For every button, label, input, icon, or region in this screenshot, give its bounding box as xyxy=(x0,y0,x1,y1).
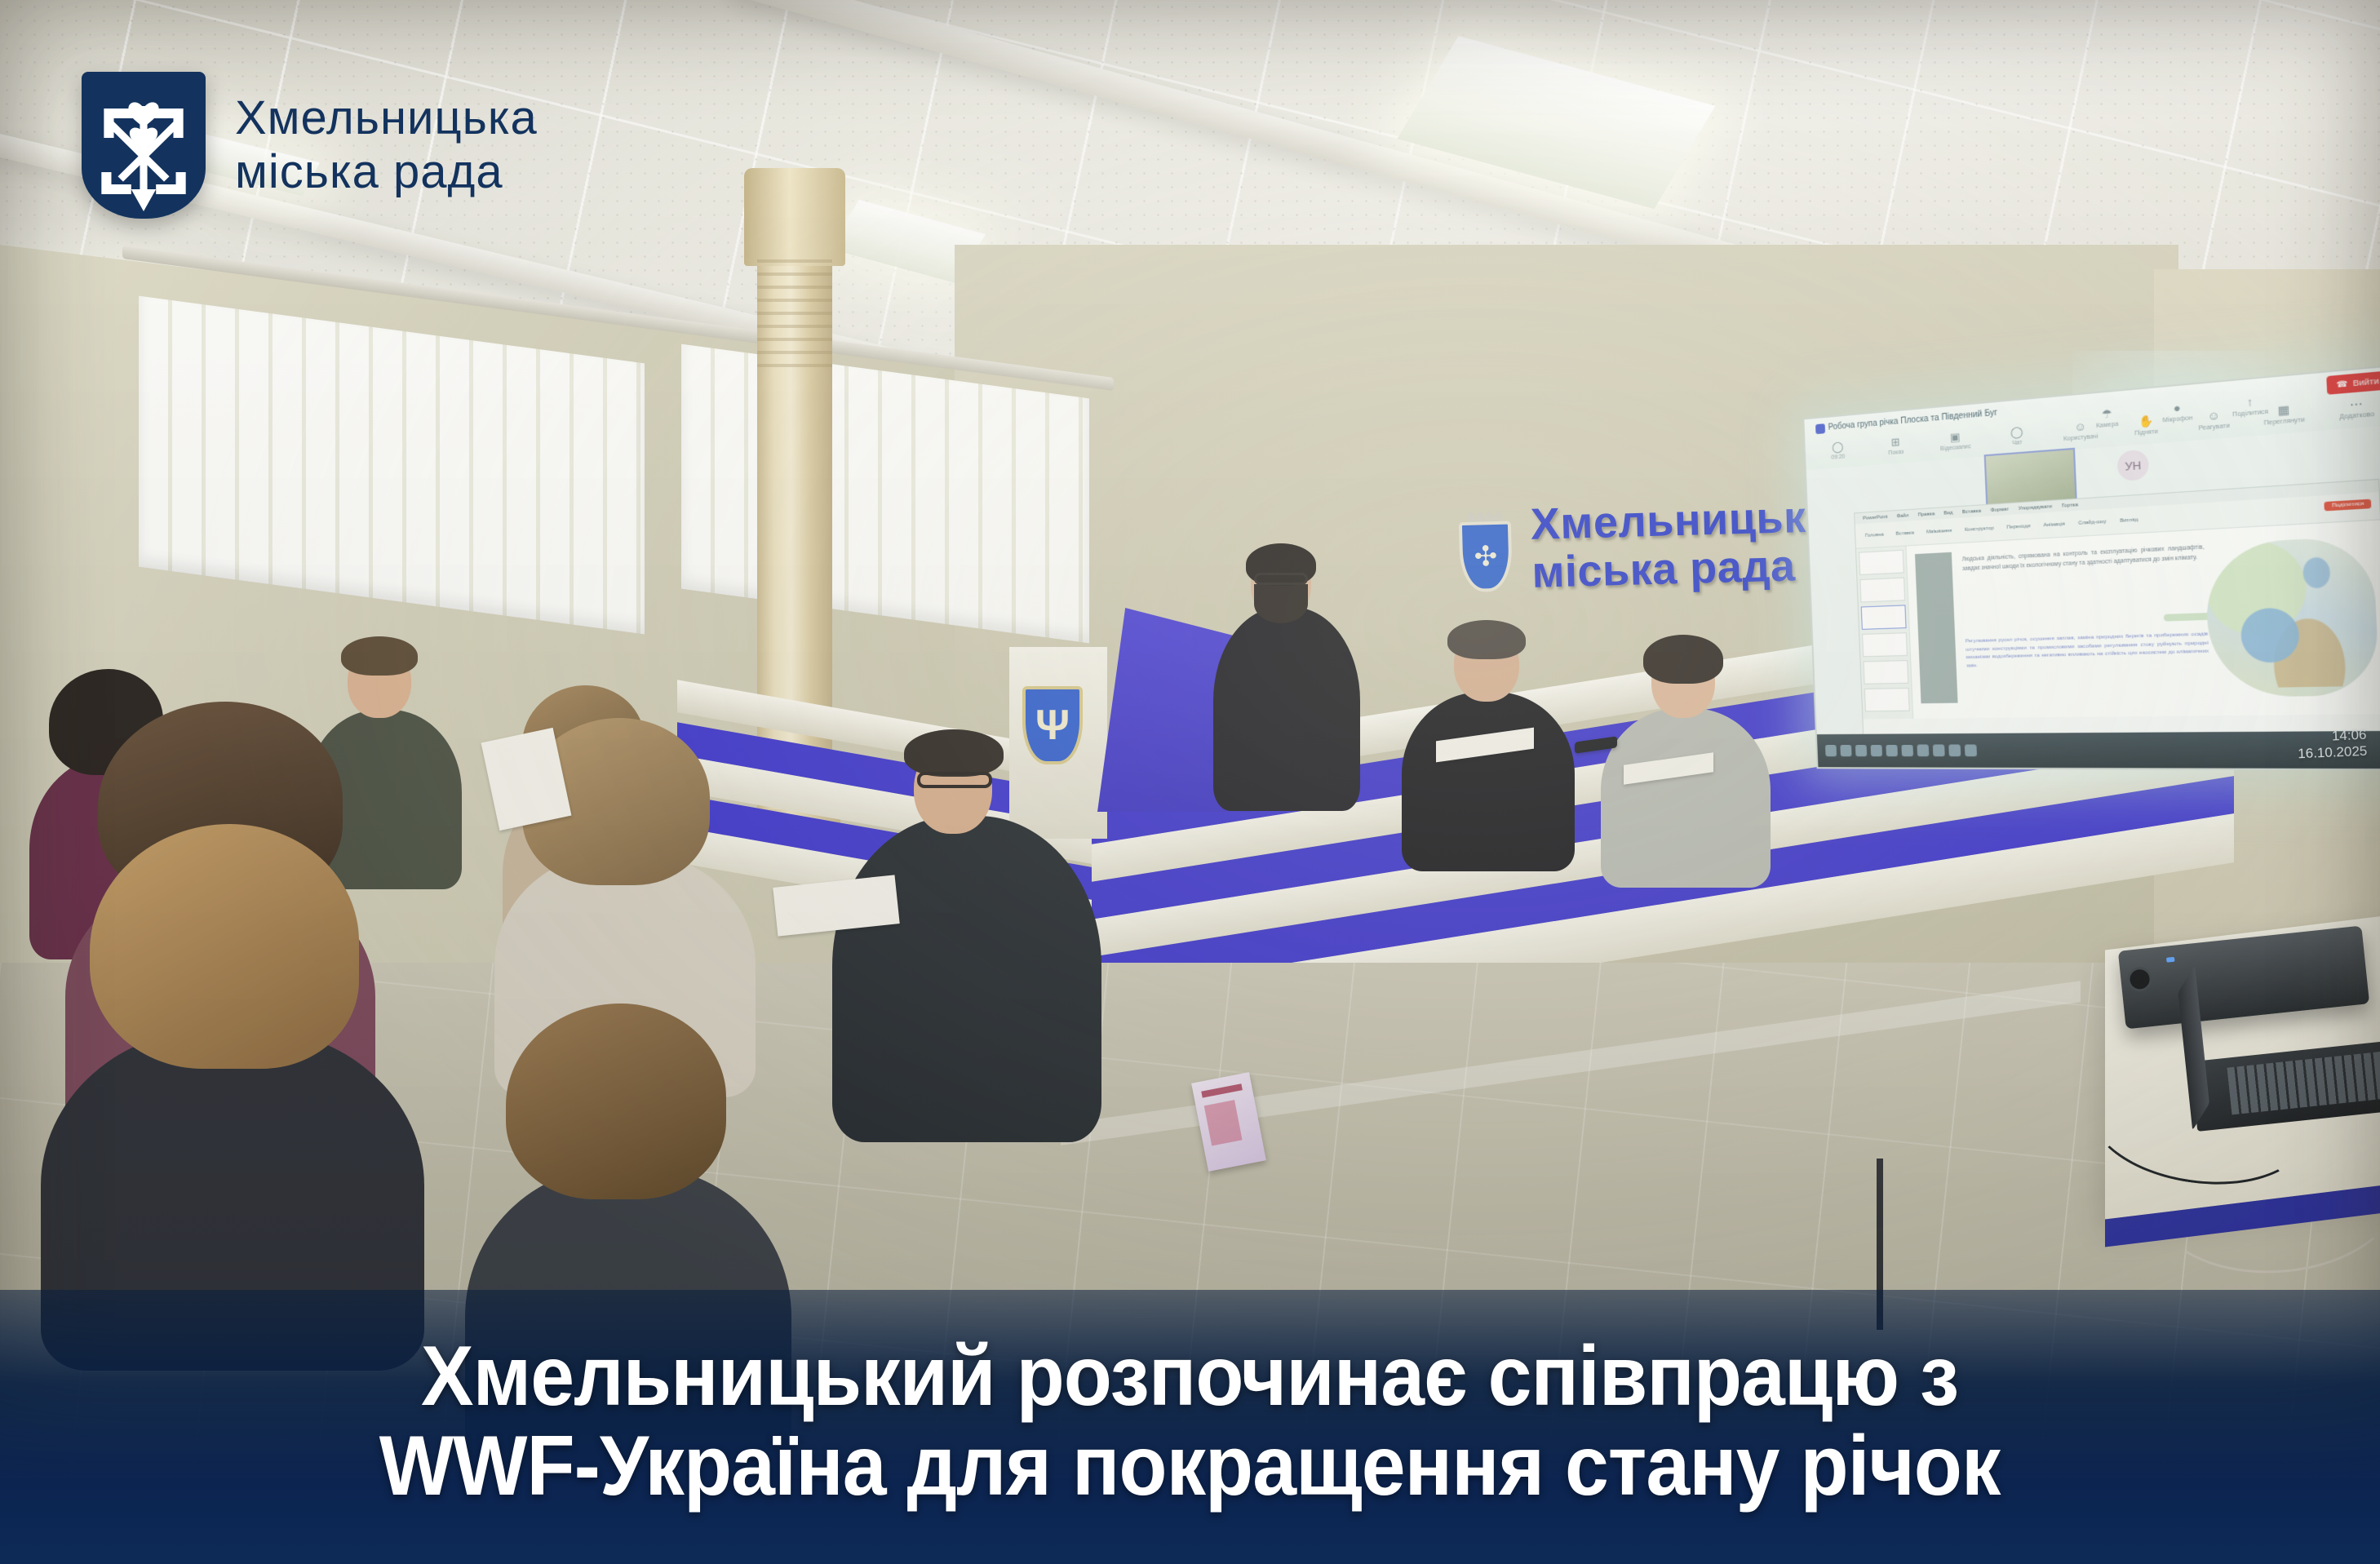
phone-hangup-icon: ☎ xyxy=(2336,379,2348,390)
khmelnytskyi-arrows-shield-icon xyxy=(82,72,206,219)
ribbon-tab[interactable]: Конструктор xyxy=(1965,525,1994,532)
wall-sign-line2: міська рада xyxy=(1531,543,1850,596)
menu-item[interactable]: Правка xyxy=(1917,512,1935,517)
caption-banner: Хмельницький розпочинає співпрацю з WWF-… xyxy=(0,1290,2380,1564)
ribbon-tab[interactable]: Malювання xyxy=(1926,528,1952,534)
slide-accent-bar xyxy=(1915,552,1958,703)
projector-led-icon xyxy=(2166,957,2175,963)
river-landscape-illustration xyxy=(2204,535,2380,698)
brand-logo: Хмельницька міська рада xyxy=(82,72,538,219)
ribbon-tab[interactable]: Вставка xyxy=(1895,530,1914,536)
wall-sign: ✣ Хмельницька міська рада xyxy=(1455,494,1850,619)
task-view-icon[interactable] xyxy=(1840,745,1851,756)
projector-lens xyxy=(2126,966,2153,993)
search-icon[interactable] xyxy=(1825,745,1837,756)
browser-icon[interactable] xyxy=(1871,745,1882,756)
menu-item[interactable]: Файл xyxy=(1896,513,1908,519)
settings-icon[interactable] xyxy=(1901,745,1913,756)
menu-item[interactable]: Гортка xyxy=(2062,503,2078,509)
column-capital xyxy=(744,168,845,266)
menu-item[interactable]: Упорядкувати xyxy=(2019,504,2052,512)
camera-icon[interactable]: ☂Камера xyxy=(2084,406,2130,430)
news-card: ✣ Хмельницька міська рада Ψ xyxy=(0,0,2380,1564)
khmelnytskyi-coat-of-arms-icon: ✣ xyxy=(1455,507,1516,597)
column-rings xyxy=(757,259,832,374)
record-icon[interactable]: ▣Відеозапис xyxy=(1934,430,1977,453)
ribbon-tab[interactable]: Переходи xyxy=(2006,523,2030,529)
leave-meeting-button[interactable]: ☎Вийти xyxy=(2326,370,2380,395)
projection-screen: Робоча група річка Плоска та Південний Б… xyxy=(1802,364,2380,770)
slide-thumbnail[interactable] xyxy=(1859,550,1904,575)
explorer-icon[interactable] xyxy=(1855,745,1867,756)
more-icon[interactable]: ⋯Додатково xyxy=(2330,396,2380,421)
brand-logo-text: Хмельницька міська рада xyxy=(235,91,538,199)
slide-thumbnail[interactable] xyxy=(1863,660,1908,685)
call-timer: ◯09:20 xyxy=(1818,440,1858,462)
brand-line-1: Хмельницька xyxy=(235,91,538,144)
ribbon-tab[interactable]: Слайд-шоу xyxy=(2078,519,2107,525)
share-button[interactable]: Поділитися xyxy=(2325,499,2372,512)
meeting-app-icon xyxy=(1815,423,1825,434)
slide-paragraph-1: Людська діяльність, спрямована на контро… xyxy=(1961,543,2205,574)
wall-sign-line1: Хмельницька xyxy=(1530,494,1849,547)
ribbon-tab[interactable]: Вигляд xyxy=(2120,517,2138,524)
teams-icon[interactable] xyxy=(1917,745,1930,756)
brand-line-2: міська рада xyxy=(235,145,538,199)
caption-line-2: WWF-Україна для покращення стану річок xyxy=(379,1421,2001,1511)
microphone-icon[interactable]: ●Мікрофон xyxy=(2153,400,2201,424)
ribbon-tab[interactable]: Головна xyxy=(1865,532,1884,538)
share-icon[interactable]: ↑Поділитися xyxy=(2225,394,2275,419)
person-speaker xyxy=(1221,548,1376,817)
powerpoint-icon[interactable] xyxy=(1886,745,1898,756)
caption-text: Хмельницький розпочинає співпрацю з WWF-… xyxy=(379,1331,2001,1511)
app-icon[interactable] xyxy=(1965,745,1977,757)
slide-canvas: Людська діяльність, спрямована на контро… xyxy=(1906,521,2380,719)
menu-item[interactable]: PowerPoint xyxy=(1863,514,1888,521)
menu-item[interactable]: Формат xyxy=(1990,507,2009,513)
slide-thumbnail[interactable] xyxy=(1861,605,1907,630)
ribbon-tab[interactable]: Анімація xyxy=(2043,521,2064,528)
slide-thumbnail-panel[interactable] xyxy=(1856,546,1913,719)
person-audience xyxy=(881,734,1150,1240)
chat-icon[interactable]: ◯Чат xyxy=(1995,424,2039,448)
slide-thumbnail[interactable] xyxy=(1862,632,1908,657)
app-icon[interactable] xyxy=(1933,745,1945,757)
wall-sign-text: Хмельницька міська рада xyxy=(1530,494,1850,596)
app-icon[interactable] xyxy=(1948,745,1961,757)
menu-item[interactable]: Вид xyxy=(1943,510,1952,516)
slide-paragraph-2: Регулювання русел річок, осушення заплав… xyxy=(1966,631,2209,671)
share-screen-icon[interactable]: ⊞Показ xyxy=(1875,435,1917,458)
caption-line-1: Хмельницький розпочинає співпрацю з xyxy=(379,1331,2001,1421)
menu-item[interactable]: Вставка xyxy=(1962,508,1981,515)
slide-thumbnail[interactable] xyxy=(1859,578,1905,603)
shared-screen-window: PowerPoint Файл Правка Вид Вставка Форма… xyxy=(1854,479,2380,738)
avatar: УН xyxy=(2116,450,2149,482)
slide-thumbnail[interactable] xyxy=(1864,688,1910,711)
